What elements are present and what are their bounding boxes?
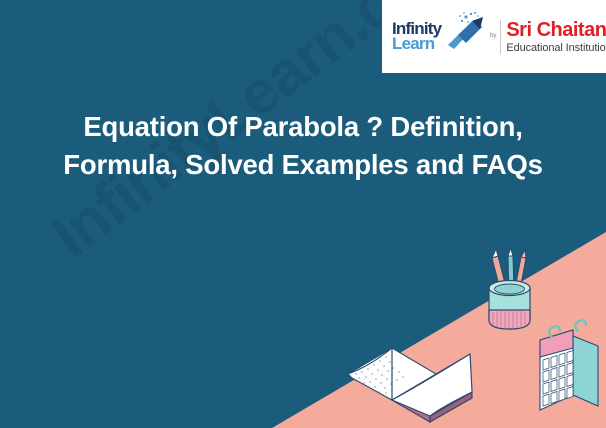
page-title-line-1: Equation Of Parabola ? Definition, xyxy=(6,108,600,146)
sri-chaitanya-logo[interactable]: Sri Chaitanya Educational Institutions xyxy=(506,19,606,55)
infinity-learn-wordmark: Infinity Learn xyxy=(392,21,441,51)
banner: InfinityLearn.com xyxy=(0,0,606,428)
infinity-learn-bird-mark xyxy=(442,11,488,55)
page-title: Equation Of Parabola ? Definition, Formu… xyxy=(0,108,606,184)
page-title-line-2: Formula, Solved Examples and FAQs xyxy=(6,146,600,184)
logo-panel[interactable]: Infinity Learn by Sri Chaitanya Educatio… xyxy=(382,0,606,73)
by-label: by xyxy=(490,33,499,41)
sri-chaitanya-subtitle: Educational Institutions xyxy=(506,41,606,55)
sri-chaitanya-title: Sri Chaitanya xyxy=(506,19,606,41)
infinity-learn-logo[interactable]: Infinity Learn xyxy=(390,9,490,65)
logo-divider xyxy=(500,20,501,54)
learn-word: Learn xyxy=(392,36,441,51)
